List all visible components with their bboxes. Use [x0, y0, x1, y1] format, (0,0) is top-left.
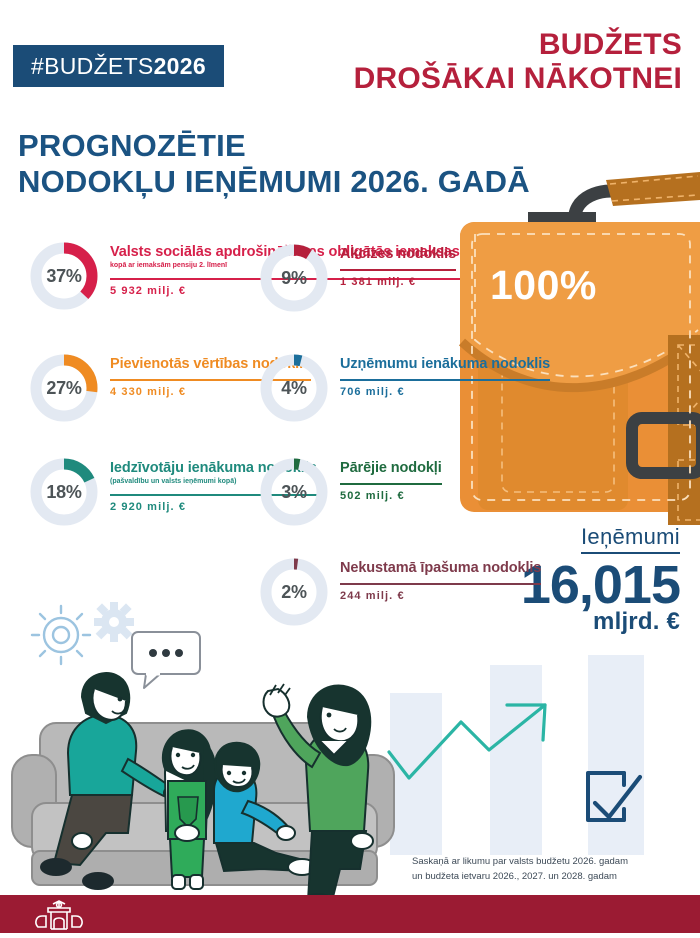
donut-chart: 4%	[258, 352, 330, 424]
footnote-line-1: Saskaņā ar likumu par valsts budžetu 202…	[412, 855, 692, 870]
footnote-line-2: un budžeta ietvaru 2026., 2027. un 2028.…	[412, 870, 692, 885]
slogan-line-2: DROŠĀKAI NĀKOTNEI	[354, 62, 682, 96]
donut-percent-label: 37%	[28, 240, 100, 312]
donut-percent-label: 27%	[28, 352, 100, 424]
header-slogan: BUDŽETS DROŠĀKAI NĀKOTNEI	[354, 28, 682, 95]
stat-divider	[340, 583, 541, 585]
footnote: Saskaņā ar likumu par valsts budžetu 202…	[412, 855, 692, 884]
stat-title: Pārējie nodokļi	[340, 460, 442, 476]
briefcase-percent-label: 100%	[490, 262, 597, 309]
hashtag-label-bold: 2026	[154, 53, 206, 80]
stat-item-other-taxes: 3% Pārējie nodokļi 502 milj. €	[258, 456, 442, 528]
checkbox-checked-icon	[578, 765, 648, 835]
stat-title: Nekustamā īpašuma nodoklis	[340, 560, 541, 576]
stat-amount: 1 381 milj. €	[340, 276, 456, 288]
stat-item-corporate-income-tax: 4% Uzņēmumu ienākuma nodoklis 706 milj. …	[258, 352, 550, 424]
page-title-line-1: PROGNOZĒTIE	[18, 128, 530, 164]
stat-title: Uzņēmumu ienākuma nodoklis	[340, 356, 550, 372]
stat-divider	[340, 483, 442, 485]
briefcase-icon	[420, 170, 700, 530]
stat-amount: 244 milj. €	[340, 590, 541, 602]
family-on-sofa-illustration	[10, 655, 400, 910]
donut-percent-label: 4%	[258, 352, 330, 424]
donut-chart: 27%	[28, 352, 100, 424]
stat-amount: 706 milj. €	[340, 386, 550, 398]
hashtag-badge: #BUDŽETS2026	[13, 45, 224, 87]
briefcase-illustration: 100%	[420, 170, 700, 530]
donut-percent-label: 9%	[258, 242, 330, 314]
total-revenue-label: Ieņēmumi	[581, 524, 680, 554]
donut-percent-label: 3%	[258, 456, 330, 528]
footer-bar	[0, 895, 700, 933]
donut-chart: 3%	[258, 456, 330, 528]
donut-chart: 18%	[28, 456, 100, 528]
stat-divider	[340, 269, 456, 271]
donut-chart: 9%	[258, 242, 330, 314]
coat-of-arms-emblem	[28, 899, 90, 938]
donut-chart: 37%	[28, 240, 100, 312]
stat-item-excise-tax: 9% Akcīzes nodoklis 1 381 milj. €	[258, 242, 456, 314]
stat-divider	[340, 379, 550, 381]
donut-percent-label: 2%	[258, 556, 330, 628]
hashtag-label-light: #BUDŽETS	[31, 53, 154, 80]
trend-arrow-icon	[385, 700, 585, 795]
stat-item-real-estate-tax: 2% Nekustamā īpašuma nodoklis 244 milj. …	[258, 556, 541, 628]
donut-percent-label: 18%	[28, 456, 100, 528]
donut-chart: 2%	[258, 556, 330, 628]
stat-title: Akcīzes nodoklis	[340, 246, 456, 262]
slogan-line-1: BUDŽETS	[354, 28, 682, 62]
stat-amount: 502 milj. €	[340, 490, 442, 502]
